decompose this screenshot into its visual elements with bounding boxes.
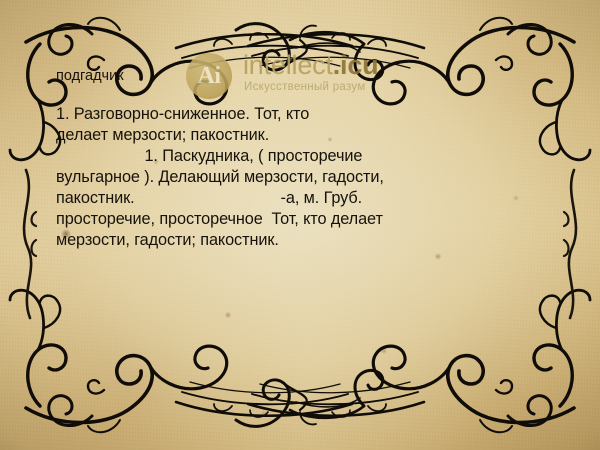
parchment-dictionary-card: Ai intellect.icu Искусственный разум под…	[0, 0, 600, 450]
right-accent-hook-2	[564, 240, 569, 256]
definition-line: мерзости, гадости; пакостник.	[56, 230, 556, 251]
dictionary-entry: подгадчик 1. Разговорно-сниженное. Тот, …	[56, 66, 556, 251]
left-accent-hook-1	[32, 212, 37, 226]
left-accent-hook-2	[32, 240, 37, 256]
right-accent-hook-1	[564, 212, 569, 226]
corner-flourish-bottom-right	[248, 290, 590, 432]
definition-line: делает мерзости; пакостник.	[56, 125, 556, 146]
left-wave-rule	[24, 170, 31, 318]
entry-headword: подгадчик	[56, 66, 556, 86]
definition-line: пакостник. -а, м. Груб.	[56, 188, 556, 209]
definition-line: 1. Разговорно-сниженное. Тот, кто	[56, 104, 556, 125]
definition-line: 1. Паскудника, ( просторечие	[56, 146, 556, 167]
definition-line: просторечие, просторечное Тот, кто делае…	[56, 209, 556, 230]
corner-flourish-bottom-left	[10, 290, 352, 432]
entry-definition: 1. Разговорно-сниженное. Тот, ктоделает …	[56, 104, 556, 251]
right-wave-rule	[569, 170, 576, 318]
definition-line: вульгарное ). Делающий мерзости, гадости…	[56, 167, 556, 188]
bottom-center-flourish	[236, 370, 383, 426]
